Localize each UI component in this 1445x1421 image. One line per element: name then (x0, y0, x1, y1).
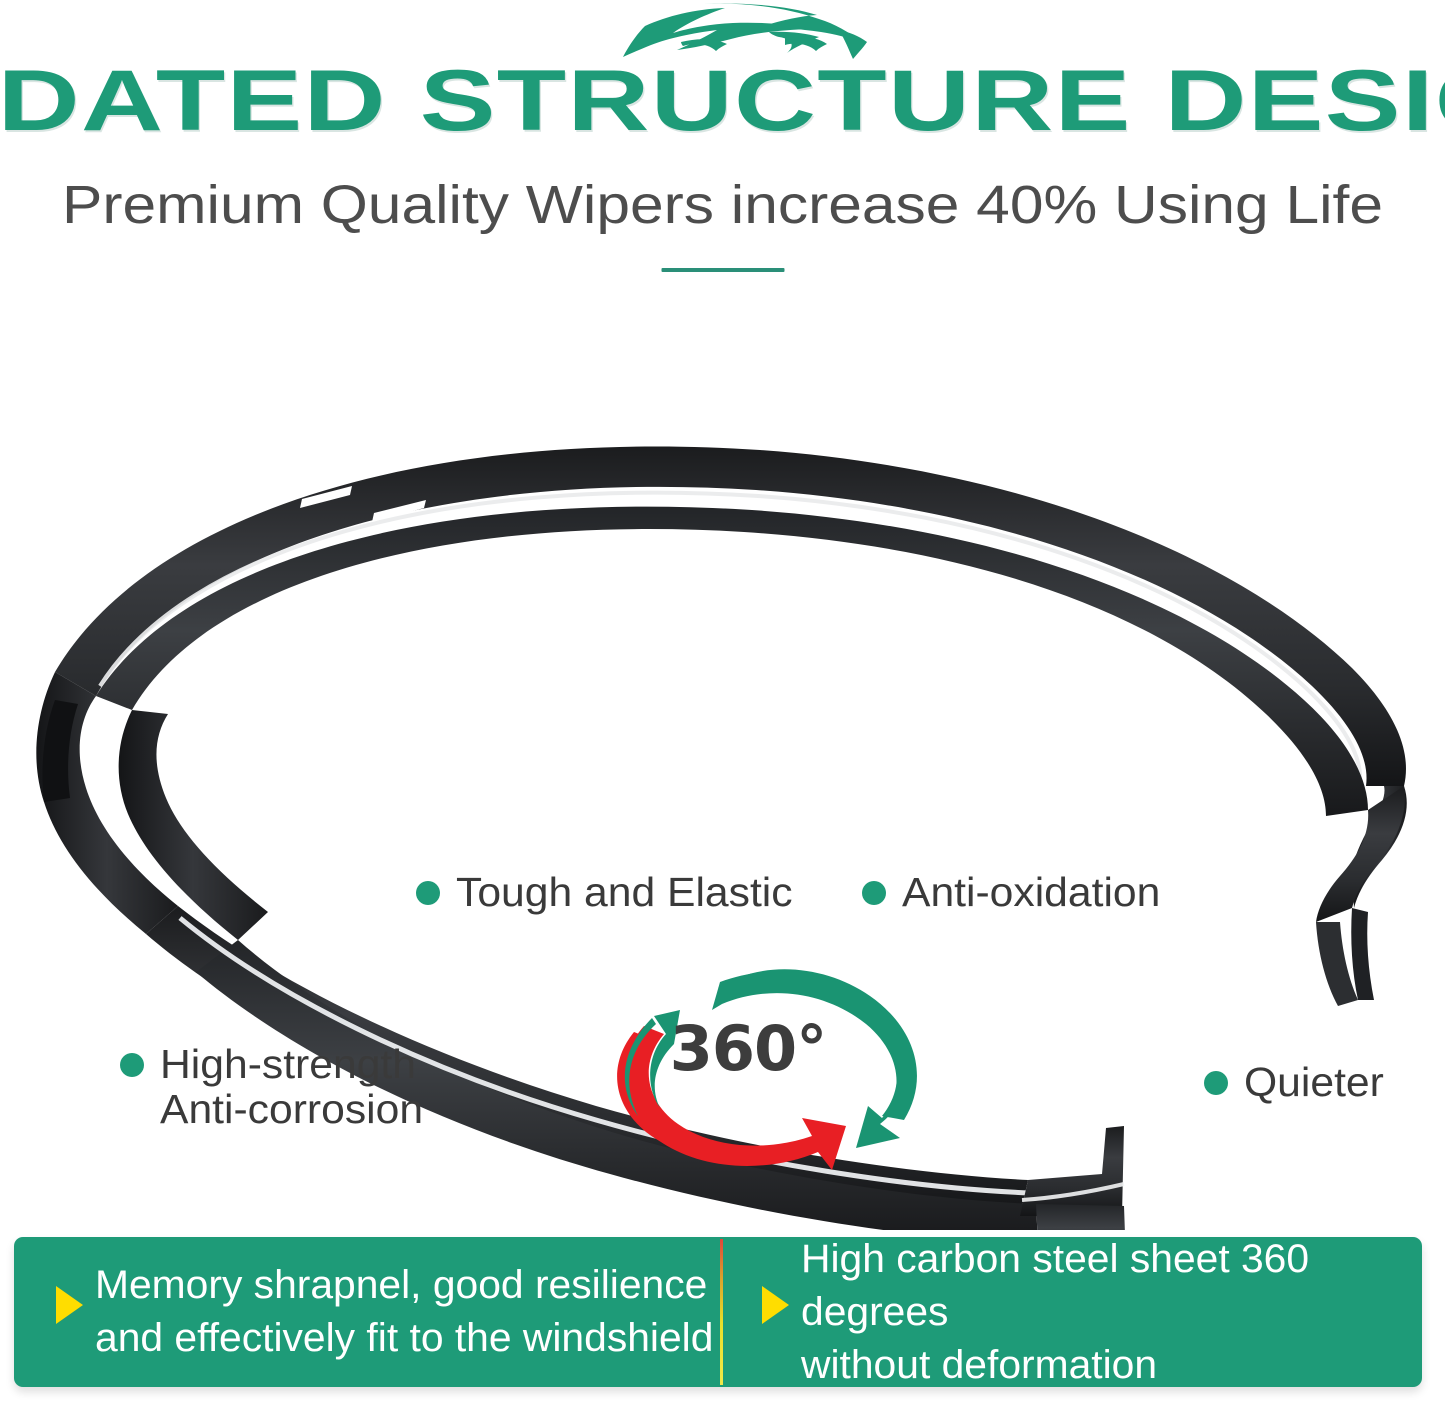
title-divider (661, 268, 784, 272)
benefit-item-high-carbon-steel: High carbon steel sheet 360 degrees with… (720, 1237, 1422, 1387)
feature-quieter: Quieter (1204, 1060, 1378, 1105)
page-subtitle: Premium Quality Wipers increase 40% Usin… (0, 176, 1445, 234)
page-title: UPDATED STRUCTURE DESIGN (0, 58, 1445, 144)
feature-label: Tough and Elastic (456, 870, 793, 915)
product-stage: 360° Tough and Elastic Anti-oxidation Hi… (0, 300, 1445, 1230)
triangle-right-icon (762, 1286, 789, 1324)
bullet-dot-icon (416, 881, 440, 905)
badge-360-value: 360° (648, 1018, 848, 1080)
feature-label: High-strength Anti-corrosion (160, 1042, 423, 1132)
feature-anti-oxidation: Anti-oxidation (862, 870, 1150, 915)
bullet-dot-icon (120, 1053, 144, 1077)
feature-label: Quieter (1244, 1060, 1384, 1105)
benefits-banner: Memory shrapnel, good resilience and eff… (14, 1237, 1422, 1387)
bullet-dot-icon (1204, 1071, 1228, 1095)
blade-right-tip (1351, 908, 1374, 1000)
benefit-text: High carbon steel sheet 360 degrees with… (801, 1233, 1434, 1392)
benefit-item-memory-shrapnel: Memory shrapnel, good resilience and eff… (14, 1237, 720, 1387)
badge-360: 360° (570, 952, 930, 1172)
header: UPDATED STRUCTURE DESIGN Premium Quality… (0, 0, 1445, 300)
feature-tough-and-elastic: Tough and Elastic (416, 870, 780, 915)
feature-label: Anti-oxidation (902, 870, 1160, 915)
triangle-right-icon (56, 1286, 83, 1324)
blade-end-lower-notched (1036, 1204, 1126, 1230)
bullet-dot-icon (862, 881, 886, 905)
benefit-text: Memory shrapnel, good resilience and eff… (95, 1259, 713, 1365)
feature-high-strength-anti-corrosion: High-strength Anti-corrosion (120, 1042, 413, 1132)
car-silhouette-icon (573, 2, 873, 60)
